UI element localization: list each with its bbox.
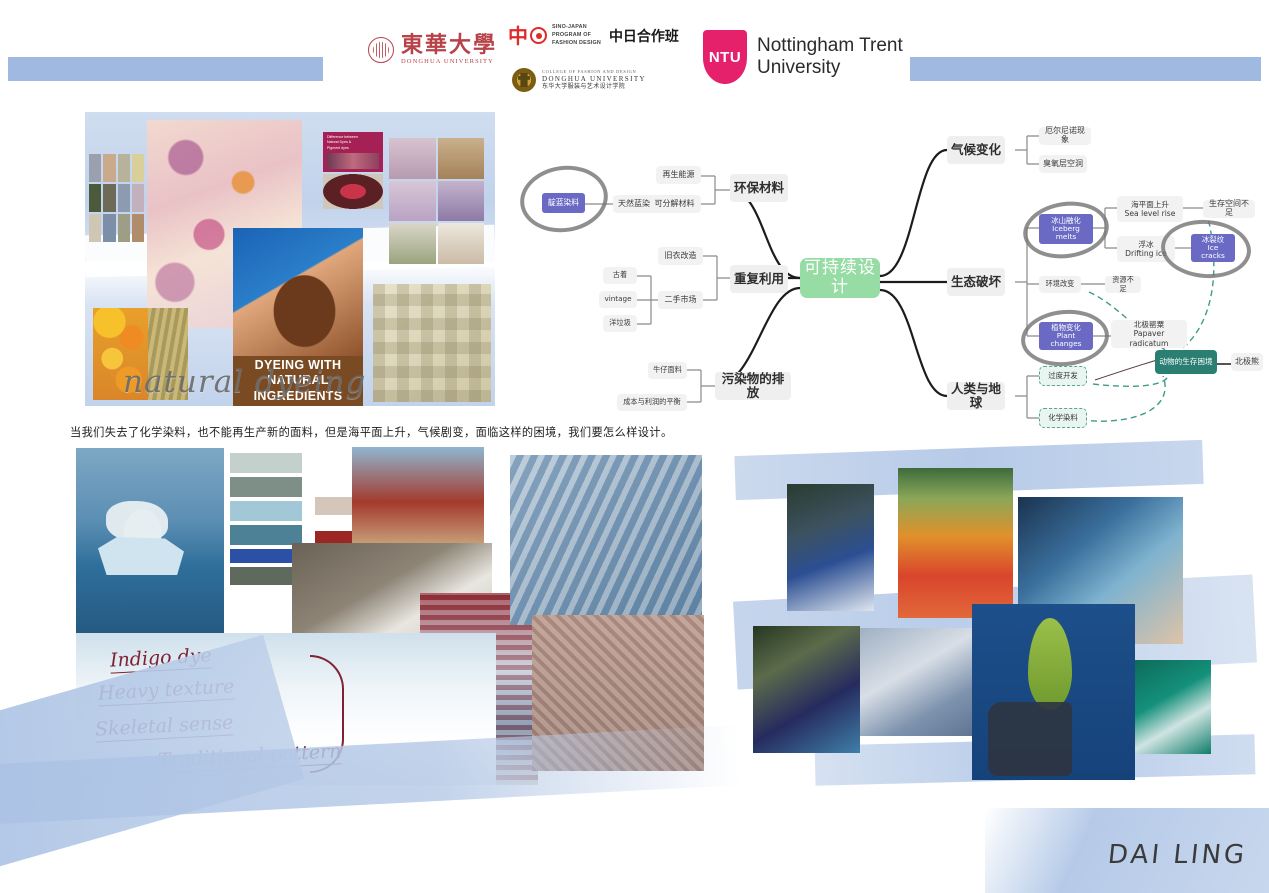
plant-changes-en: Plant changes [1043, 332, 1089, 349]
ntu-shield-icon: NTU [703, 30, 747, 84]
sino-line-1: SINO-JAPAN [552, 24, 601, 32]
mindmap-node-eco-materials[interactable]: 环保材料 [730, 174, 788, 202]
mindmap-node-biodegradable[interactable]: 可分解材料 [648, 195, 701, 213]
header-band-right [910, 57, 1261, 81]
mindmap-node-old-clothes[interactable]: 旧衣改造 [658, 247, 703, 265]
design-statement-text: 当我们失去了化学染料，也不能再生产新的面料，但是海平面上升，气候剧变，面临这样的… [70, 424, 700, 440]
mindmap-node-indigo-dye[interactable]: 靛蓝染料 [542, 193, 585, 213]
mindmap-node-drifting-ice[interactable]: 浮冰 Drifting ice [1117, 236, 1175, 262]
sino-line-2: PROGRAM OF [552, 32, 601, 40]
dripping-indigo-photo [753, 626, 860, 753]
ice-texture-photo [510, 455, 702, 625]
indigo-vat-dipping-photo [787, 484, 874, 611]
ntu-logo-name: Nottingham Trent University [757, 35, 903, 79]
mindmap-node-ecological-damage[interactable]: 生态破坏 [947, 268, 1005, 296]
mindmap-node-vintage[interactable]: vintage [599, 291, 637, 308]
fabric-swatch-grid [89, 154, 144, 242]
iceberg-melts-en: Iceberg melts [1043, 225, 1089, 242]
cfd-seal-icon [512, 68, 536, 92]
sino-japan-mark-icon: 中 [508, 26, 547, 46]
mindmap-node-el-nino[interactable]: 厄尔尼诺现象 [1039, 127, 1091, 145]
mindmap-node-humans-and-earth[interactable]: 人类与地球 [947, 382, 1005, 410]
botanical-dye-chart-photo [373, 284, 491, 402]
sea-level-cn: 海平面上升 [1131, 200, 1169, 209]
college-fashion-design-logo: COLLEGE OF FASHION AND DESIGN DONGHUA UN… [512, 68, 646, 92]
denim-fabric-fold-photo [860, 628, 982, 736]
drifting-ice-en: Drifting ice [1125, 249, 1167, 258]
dye-ingredients-hands-photo [233, 228, 363, 362]
mindmap-node-plant-changes[interactable]: 植物变化 Plant changes [1039, 322, 1093, 350]
mindmap-node-polar-bear[interactable]: 北极熊 [1231, 353, 1263, 371]
papaver-en: Papaver radicatum [1115, 329, 1183, 347]
papaver-cn: 北极罂粟 [1134, 320, 1164, 329]
mindmap-node-reuse[interactable]: 重复利用 [730, 265, 788, 293]
ice-floe-shape [98, 537, 184, 575]
mindmap-node-natural-indigo[interactable]: 天然蓝染 [613, 195, 655, 213]
thumb-caption: Difference between Natural Dyes & Pigmen… [323, 132, 383, 154]
ice-in-green-water-photo [1135, 660, 1211, 754]
mindmap-node-foreign-waste[interactable]: 洋垃圾 [603, 315, 637, 332]
mindmap-node-living-space-shortage[interactable]: 生存空间不足 [1203, 200, 1255, 218]
stained-hand-shape [988, 702, 1072, 776]
mindmap-node-renewable-energy[interactable]: 再生能源 [656, 166, 701, 184]
dye-bath-pot-photo [323, 174, 383, 209]
mindmap-node-iceberg-melts[interactable]: 冰山融化 Iceberg melts [1039, 214, 1093, 244]
mindmap-node-guzhe[interactable]: 古着 [603, 267, 637, 284]
moodboard-natural-dyeing: Difference between Natural Dyes & Pigmen… [85, 112, 495, 406]
dyed-sample-grid [389, 138, 484, 264]
sustainable-design-mindmap: 可持续设计 环保材料 再生能源 可分解材料 天然蓝染 靛蓝染料 重复利用 旧衣改… [515, 108, 1260, 443]
mindmap-node-cost-profit-balance[interactable]: 成本与利润的平衡 [617, 394, 687, 411]
mindmap-node-papaver-radicatum[interactable]: 北极罂粟 Papaver radicatum [1111, 320, 1187, 348]
moodboard-indigo-process [735, 440, 1255, 795]
mindmap-node-sea-level-rise[interactable]: 海平面上升 Sea level rise [1117, 196, 1183, 222]
drifting-ice-cn: 浮冰 [1138, 240, 1153, 249]
donghua-university-logo: 東華大學 DONGHUA UNIVERSITY [368, 34, 497, 66]
ntu-logo: NTU Nottingham Trent University [703, 30, 903, 84]
header-band-left [8, 57, 323, 81]
mindmap-node-animal-survival-crisis[interactable]: 动物的生存困境 [1155, 350, 1217, 374]
sino-ring-icon [530, 27, 547, 44]
sea-level-en: Sea level rise [1125, 209, 1176, 218]
sino-line-3: FASHION DESIGN [552, 40, 601, 48]
dhu-logo-cn: 東華大學 [401, 34, 497, 56]
mindmap-node-environment-change[interactable]: 环境改变 [1039, 276, 1081, 293]
mindmap-node-ice-cracks[interactable]: 冰裂纹 Ice cracks [1191, 234, 1235, 262]
author-signature: DAI LING [1106, 840, 1248, 870]
polar-bear-shape [106, 501, 168, 541]
natural-vs-pigment-thumb: Difference between Natural Dyes & Pigmen… [323, 132, 383, 172]
natural-dyeing-script-label: natural dyeing [123, 364, 366, 400]
mindmap-node-denim-fabric[interactable]: 牛仔面料 [648, 362, 687, 379]
mindmap-node-over-development[interactable]: 过度开发 [1039, 366, 1087, 386]
dhu-seal-icon [368, 37, 394, 63]
poster-canvas: 東華大學 DONGHUA UNIVERSITY 中 SINO-JAPAN PRO… [0, 0, 1269, 893]
mindmap-node-chemical-dyes[interactable]: 化学染料 [1039, 408, 1087, 428]
mindmap-node-climate-change[interactable]: 气候变化 [947, 136, 1005, 164]
mindmap-root-node[interactable]: 可持续设计 [800, 258, 880, 298]
mindmap-node-ozone-hole[interactable]: 臭氧层空洞 [1039, 155, 1087, 173]
mindmap-node-resource-shortage[interactable]: 资源不足 [1105, 276, 1141, 293]
sino-japan-program-logo: 中 SINO-JAPAN PROGRAM OF FASHION DESIGN 中… [508, 24, 679, 47]
ice-cracks-en: Ice cracks [1195, 244, 1231, 261]
sino-mark-zh: 中 [508, 26, 528, 46]
mindmap-node-second-hand-market[interactable]: 二手市场 [658, 291, 703, 309]
arctic-wildlife-photo [352, 447, 484, 547]
dhu-logo-en: DONGHUA UNIVERSITY [401, 59, 497, 66]
mindmap-node-pollutant-emissions[interactable]: 污染物的排放 [715, 372, 791, 400]
polluted-river-photo [898, 468, 1013, 618]
sino-japan-cn-label: 中日合作班 [609, 26, 679, 46]
cfd-line-3: 东华大学服装与艺术设计学院 [542, 83, 646, 91]
